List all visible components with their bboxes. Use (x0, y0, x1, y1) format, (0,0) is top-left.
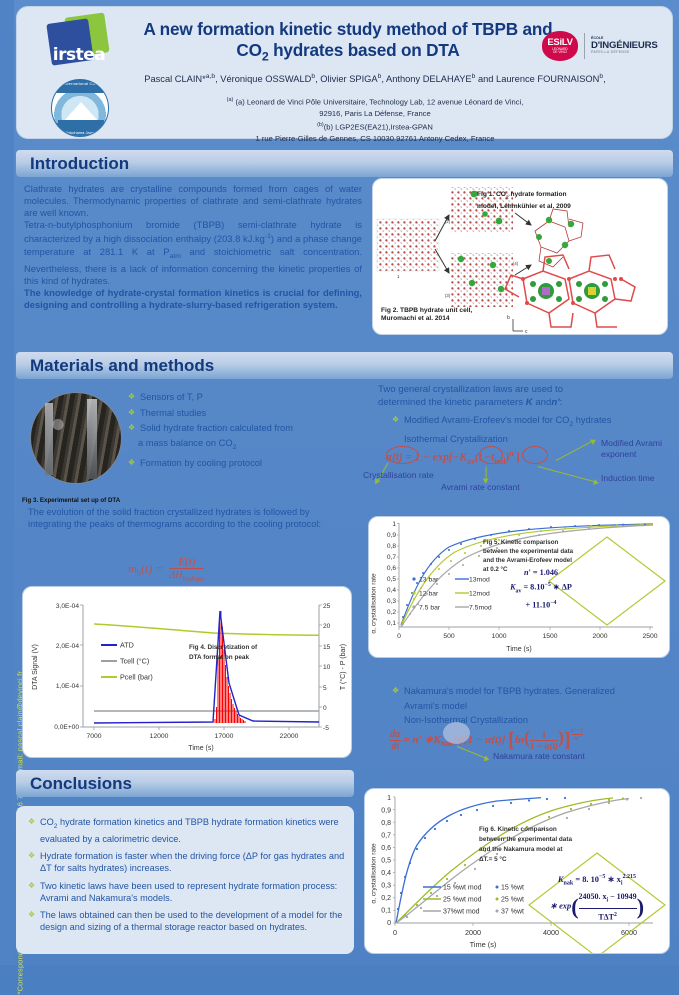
figure-6-y-axis-label: α, crystallisation rate (371, 834, 378, 914)
svg-text:Fig 6. Kinetic comparison: Fig 6. Kinetic comparison (479, 826, 557, 833)
nak-eq-lhs-den: dt (390, 740, 401, 752)
avrami-eq-part4: ] (516, 452, 520, 464)
svg-text:ATD: ATD (120, 641, 134, 650)
svg-text:and the Nakamura model at: and the Nakamura model at (479, 846, 563, 853)
kinetic-head-l2: determined the kinetic parameters (378, 397, 523, 408)
intro-paragraph-2: Tetra-n-butylphosphonium bromide (TBPB) … (24, 219, 362, 286)
conclusions-panel: CO2 hydrate formation kinetics and TBPB … (16, 806, 354, 954)
author-sup-2: b (311, 73, 315, 80)
label-modavrami-l2: exponent (601, 449, 636, 459)
nak-eq-a: = n' ∗ (403, 734, 433, 746)
equation-mass-hydrate: mh(t) = E(t) ΔHhydrate (128, 556, 204, 583)
fig5-ann-eq: = 8.10 (521, 583, 544, 592)
fig5-ann-line2: Kav = 8.10−5 ∗ ΔP (481, 579, 601, 597)
eq-mh-den-dh: ΔH (169, 570, 182, 581)
svg-text:0: 0 (397, 633, 401, 640)
eq-mh-denominator: ΔHhydrate (169, 568, 204, 583)
author-sup-5: b (599, 73, 603, 80)
page-title: A new formation kinetic study method of … (113, 19, 583, 67)
nakamura-model-bullet: Nakamura's model for TBPB hydrates. Gene… (392, 684, 672, 729)
title-line-1: A new formation kinetic study method of … (144, 19, 553, 39)
label-modified-avrami-exponent: Modified Avrami exponent (601, 438, 673, 459)
fig6-ann-den-sup: 2 (614, 912, 617, 918)
nak-eq-bracket-left: [ (508, 729, 515, 751)
svg-text:between the experimental data: between the experimental data (483, 548, 574, 555)
svg-text:0,2: 0,2 (387, 609, 396, 616)
esilv-badge-name: ESiLV (547, 38, 572, 48)
svg-text:15 %wt mod: 15 %wt mod (443, 885, 482, 892)
svg-text:5: 5 (323, 685, 327, 692)
svg-text:0,6: 0,6 (381, 845, 391, 852)
fig5-ann-dp: ∗ ΔP (551, 583, 572, 592)
figure-6-annotation: Knak = 8. 10−5 ∗ xi2.215 ∗ exp( 24050. x… (535, 871, 659, 924)
section-title-introduction: Introduction (30, 154, 129, 174)
figure-5-y-axis-label: α, crystallisation rate (371, 564, 378, 644)
svg-text:-5: -5 (323, 725, 329, 732)
poster-header: irstea 24th International Congress Yokoh… (16, 6, 673, 139)
figure-3-caption: Fig 3. Experimental set up of DTA (22, 497, 120, 504)
irstea-logo-text: irstea (47, 45, 111, 65)
figure-6-panel: 10,90,8 0,70,60,5 0,40,30,2 0,10 02000 4… (364, 788, 670, 954)
bullet-cooling-protocol: Formation by cooling protocol (128, 456, 343, 471)
svg-text:(3): (3) (445, 293, 451, 298)
highlight-ellipse-alpha (386, 446, 419, 464)
svg-text:13 bar: 13 bar (419, 576, 439, 583)
intro-paragraph-1: Clathrate hydrates are crystalline compo… (24, 183, 362, 219)
svg-text:2500: 2500 (642, 633, 657, 640)
highlight-ellipse-kav (479, 446, 503, 464)
svg-text:17000: 17000 (215, 733, 234, 740)
fig6-ann-xsup: 2.215 (623, 874, 637, 880)
fig5-ann-nval: = 1.046 (531, 568, 558, 577)
svg-text:0,0E+00: 0,0E+00 (54, 724, 79, 731)
kinetic-laws-heading: Two general crystallization laws are use… (378, 384, 668, 409)
conclusions-list: CO2 hydrate formation kinetics and TBPB … (28, 816, 346, 938)
svg-text:0,5: 0,5 (387, 576, 396, 583)
section-banner-conclusions: Conclusions (16, 770, 354, 797)
figure-4-chart: 3,0E-04 2,0E-04 1,0E-04 0,0E+00 25 20 15… (23, 587, 351, 757)
svg-text:1500: 1500 (542, 633, 557, 640)
label-modavrami-l1: Modified Avrami (601, 438, 662, 448)
svg-text:0,8: 0,8 (387, 543, 396, 550)
esilv-logo: ESiLV LEONARD DE VINCI ÉCOLE D'INGÉNIEUR… (542, 29, 660, 63)
svg-text:7.5 bar: 7.5 bar (419, 604, 441, 611)
introduction-body: Clathrate hydrates are crystalline compo… (24, 183, 362, 311)
figure-5-panel: 10,90,8 0,70,60,5 0,40,30,2 0,1 05001000… (368, 516, 670, 658)
affiliation-b-line1: (b) LGP2ES(EA21),Irstea-GPAN (324, 123, 433, 132)
svg-text:1: 1 (392, 521, 396, 528)
fig1-cap-b: hydrate formation (509, 191, 567, 198)
svg-text:20: 20 (323, 623, 331, 630)
label-avrami-rate-constant: Avrami rate constant (441, 482, 561, 493)
svg-text:37%wt mod: 37%wt mod (443, 909, 480, 916)
sidebar-contact-strip: *Correspondant Author : Phone number: +3… (0, 0, 14, 965)
svg-text:and the Avrami-Erofeev model: and the Avrami-Erofeev model (483, 557, 572, 564)
nak-eq-bracket-right: ] (564, 729, 571, 751)
section-title-conclusions: Conclusions (30, 774, 132, 794)
eq-mh-t: (t) = (141, 561, 163, 575)
svg-text:0,6: 0,6 (387, 565, 396, 572)
bullet-solid-fraction: Solid hydrate fraction calculated from a… (128, 421, 343, 455)
svg-text:7000: 7000 (86, 733, 101, 740)
irstea-logo: irstea (49, 15, 109, 71)
fig1-cap-c: model, Lehmkühler et al. 2009 (477, 203, 571, 210)
svg-text:Tcell (°C): Tcell (°C) (120, 657, 149, 666)
svg-text:1,0E-04: 1,0E-04 (56, 683, 79, 690)
section-banner-introduction: Introduction (16, 150, 673, 177)
esilv-wordmark: ÉCOLE D'INGÉNIEURS PARIS-LA DÉFENSE (591, 37, 658, 55)
svg-text:Time (s): Time (s) (470, 940, 497, 949)
conclusion-item-1: CO2 hydrate formation kinetics and TBPB … (28, 816, 346, 845)
title-line-2-rest: hydrates based on DTA (269, 40, 460, 60)
nak-eq-K: K (433, 734, 440, 746)
fig6-ann-exp: ∗ exp (550, 902, 571, 911)
fig1-cap-a: Fig 1. CO (477, 191, 506, 198)
nak-eq-exp-num: n'−1 (571, 727, 584, 734)
affiliation-a: (a) (a) Leonard de Vinci Pôle Universita… (75, 95, 675, 120)
figure-1-caption: Fig 1. CO2 hydrate formation model, Lehm… (477, 191, 647, 211)
avrami-bullet-l1b: hydrates (573, 415, 611, 425)
svg-text:0,4: 0,4 (387, 587, 396, 594)
avrami-bullet-l2: Isothermal Crystallization (404, 434, 508, 444)
svg-text:Pcell (bar): Pcell (bar) (120, 673, 153, 682)
intro-paragraph-3: The knowledge of hydrate-crystal formati… (24, 287, 362, 311)
fig5-ann-sup2: −4 (550, 600, 556, 606)
affiliation-b-line2: 1 rue Pierre-Gilles de Gennes, CS 10030 … (256, 134, 495, 143)
svg-text:0: 0 (393, 928, 397, 937)
esilv-badge-icon: ESiLV LEONARD DE VINCI (542, 31, 578, 61)
fig6-ann-num: 24050. xi − 10949 (579, 890, 637, 908)
experimental-setup-photo (30, 392, 122, 484)
svg-text:0,9: 0,9 (387, 532, 396, 539)
fig6-ann-line1: Knak = 8. 10−5 ∗ xi2.215 (535, 871, 659, 890)
nakamura-bullet-l2: Avrami's model (404, 701, 467, 711)
arrow-to-induction-time (538, 466, 598, 483)
fig4-title-line1: Fig 4. Discretization of (189, 644, 258, 651)
svg-text:Time (s): Time (s) (506, 646, 531, 653)
fig6-ann-xsub: i (621, 880, 623, 886)
conclusion-item-4: The laws obtained can then be used to th… (28, 909, 346, 933)
arrow-to-avrami-rate-constant (485, 467, 486, 483)
conclusion-1-rest: hydrate formation kinetics and TBPB hydr… (40, 817, 339, 844)
svg-text:Fig 5. Kinetic comparison: Fig 5. Kinetic comparison (483, 539, 559, 546)
author-list: Pascal CLAIN*a,b, Véronique OSSWALDb, Ol… (75, 73, 675, 84)
svg-text:0,8: 0,8 (381, 820, 391, 827)
fig5-ann-plus: + 11.10 (526, 601, 551, 610)
author-sup-1: a,b (206, 73, 215, 80)
bullet-solid-fraction-l1: Solid hydrate fraction calculated from (140, 423, 293, 433)
svg-text:500: 500 (443, 633, 455, 640)
nak-eq-frac-den: 1 − α(t) (530, 740, 558, 751)
figure-4-panel: 3,0E-04 2,0E-04 1,0E-04 0,0E+00 25 20 15… (22, 586, 352, 758)
esilv-badge-sub2: DE VINCI (553, 51, 567, 54)
svg-text:0: 0 (387, 920, 391, 927)
fig6-ann-num-b: − 10949 (608, 892, 637, 901)
nakamura-bullet-l1: Nakamura's model for TBPB hydrates. Gene… (404, 686, 615, 696)
svg-text:10: 10 (323, 664, 331, 671)
svg-text:25: 25 (323, 603, 331, 610)
avrami-bullet-l1a: Modified Avrami-Erofeev's model for CO (404, 415, 569, 425)
svg-text:0,7: 0,7 (381, 833, 391, 840)
esilv-divider (584, 33, 585, 59)
eq-mh-den-sub: hydrate (183, 575, 205, 583)
kinetic-head-and: and (535, 397, 551, 408)
evolution-description: The evolution of the solid fraction crys… (28, 506, 348, 531)
fig6-ann-Ksub: nak (564, 880, 574, 886)
author-sup-4: b (472, 73, 476, 80)
svg-text:between the experimental data: between the experimental data (479, 836, 572, 843)
svg-text:0: 0 (323, 705, 327, 712)
svg-text:15 %wt: 15 %wt (501, 885, 524, 892)
avrami-eq-K: K (459, 452, 466, 464)
fig4-title-line2: DTA formation peak (189, 654, 249, 661)
svg-text:1000: 1000 (491, 633, 506, 640)
bullet-co2-subscript: 2 (233, 443, 237, 450)
svg-text:2000: 2000 (465, 928, 481, 937)
svg-text:ΔT.= 5 °C: ΔT.= 5 °C (479, 855, 507, 863)
figure-1-2-panel: 1 (2) (3) (372, 178, 668, 335)
fig2-cap-b: Muromachi et al. 2014 (381, 315, 450, 322)
equation-nakamura: dα dt = n' ∗Knak(t)[1 − α(t)] [ln( 1 1 −… (390, 727, 583, 752)
label-induction-time: Induction time (601, 473, 679, 484)
svg-text:(4): (4) (513, 261, 519, 266)
svg-text:T (°C) - P (bar): T (°C) - P (bar) (339, 644, 347, 690)
affil-a-marker: (a) (227, 97, 234, 103)
fig5-ann-line3: + 11.10−4 (481, 597, 601, 612)
fig6-ann-den-a: TΔT (598, 913, 614, 922)
svg-text:Time (s): Time (s) (188, 745, 213, 752)
svg-text:4000: 4000 (543, 928, 559, 937)
intro-p2-subscript: atm (170, 252, 181, 259)
eq-mh-m: m (128, 561, 137, 575)
nakamura-bullet-l3: Non-Isothermal Crystallization (404, 715, 528, 725)
bullet-thermal: Thermal studies (128, 406, 343, 421)
affiliation-b: (b)(b) LGP2ES(EA21),Irstea-GPAN 1 rue Pi… (75, 120, 675, 145)
svg-text:25 %wt: 25 %wt (501, 897, 524, 904)
svg-text:2000: 2000 (592, 633, 607, 640)
nak-eq-exp-den: n' (571, 734, 584, 742)
nak-eq-ln: ln (515, 734, 524, 746)
svg-text:25 %wt mod: 25 %wt mod (443, 897, 482, 904)
affiliation-a-line2: 92916, Paris La Défense, France (319, 109, 430, 118)
fig6-ann-line2: ∗ exp( 24050. xi − 10949 TΔT2 ) (535, 890, 659, 923)
nak-eq-frac-num: 1 (530, 730, 558, 740)
poster-root: *Correspondant Author : Phone number: +3… (0, 0, 679, 965)
svg-text:0,4: 0,4 (381, 870, 391, 877)
svg-text:0,1: 0,1 (381, 908, 391, 915)
svg-text:3,0E-04: 3,0E-04 (56, 603, 79, 610)
kinetic-head-l1: Two general crystallization laws are use… (378, 384, 563, 395)
section-banner-materials: Materials and methods (16, 352, 673, 379)
svg-text:12000: 12000 (150, 733, 169, 740)
affil-b-marker: (b) (317, 122, 324, 128)
conclusion-1-co: CO (40, 817, 54, 827)
svg-text:37 %wt: 37 %wt (501, 909, 524, 916)
svg-text:15: 15 (323, 644, 331, 651)
bullet-sensors: Sensors of T, P (128, 390, 343, 405)
avrami-eq-K-sub: av (467, 457, 475, 466)
fig6-ann-eq: = 8. 10 (573, 875, 599, 884)
bullet-solid-fraction-l2: a mass balance on CO (138, 436, 233, 451)
nak-eq-lhs-num: dα (390, 729, 401, 740)
highlight-ellipse-tind (522, 446, 548, 464)
svg-text:0,3: 0,3 (387, 598, 396, 605)
svg-text:0,5: 0,5 (381, 858, 391, 865)
svg-text:2,0E-04: 2,0E-04 (56, 643, 79, 650)
title-co2-subscript: 2 (262, 49, 269, 63)
svg-text:1: 1 (387, 795, 391, 802)
label-crystallisation-rate: Crystallisation rate (363, 470, 473, 481)
title-line-2-co: CO (236, 40, 261, 60)
materials-bullet-list: Sensors of T, P Thermal studies Solid hy… (128, 390, 343, 471)
esilv-word-paris: PARIS-LA DÉFENSE (591, 51, 658, 55)
svg-text:c: c (525, 329, 528, 335)
section-title-materials: Materials and methods (30, 356, 214, 376)
fig2-cap-a: Fig 2. TBPB hydrate unit cell, (381, 307, 472, 314)
nakamura-bullet-item: Nakamura's model for TBPB hydrates. Gene… (392, 684, 672, 728)
eq-mh-numerator: E(t) (169, 556, 204, 568)
fig5-ann-line1: n′ = 1.046 (481, 567, 601, 579)
label-nakamura-rate-constant: Nakamura rate constant (493, 751, 643, 762)
fig6-ann-x: ∗ x (605, 875, 620, 884)
fig6-ann-num-a: 24050. x (579, 892, 607, 901)
kinetic-head-colon: : (560, 397, 563, 408)
svg-text:0,1: 0,1 (387, 620, 396, 627)
figure-5-annotation: n′ = 1.046 Kav = 8.10−5 ∗ ΔP + 11.10−4 (481, 567, 601, 612)
svg-text:0,7: 0,7 (387, 554, 396, 561)
kinetic-head-n: n' (551, 397, 559, 408)
svg-text:0,9: 0,9 (381, 808, 391, 815)
fig6-ann-den: TΔT2 (579, 908, 637, 924)
highlight-circle-knak (443, 722, 470, 744)
figure-2-caption: Fig 2. TBPB hydrate unit cell, Muromachi… (381, 307, 531, 324)
svg-text:DTA Signal (V): DTA Signal (V) (32, 644, 39, 690)
author-sup-3: b (378, 73, 382, 80)
svg-text:1: 1 (397, 274, 400, 279)
conclusion-item-3: Two kinetic laws have been used to repre… (28, 880, 346, 904)
svg-text:22000: 22000 (280, 733, 299, 740)
affiliation-a-line1: (a) Leonard de Vinci Pôle Universitaire,… (235, 98, 523, 107)
svg-text:0,3: 0,3 (381, 883, 391, 890)
svg-text:0,2: 0,2 (381, 895, 391, 902)
conclusion-item-2: Hydrate formation is faster when the dri… (28, 850, 346, 874)
kinetic-head-K: K (526, 397, 533, 408)
svg-text:12 bar: 12 bar (419, 590, 439, 597)
